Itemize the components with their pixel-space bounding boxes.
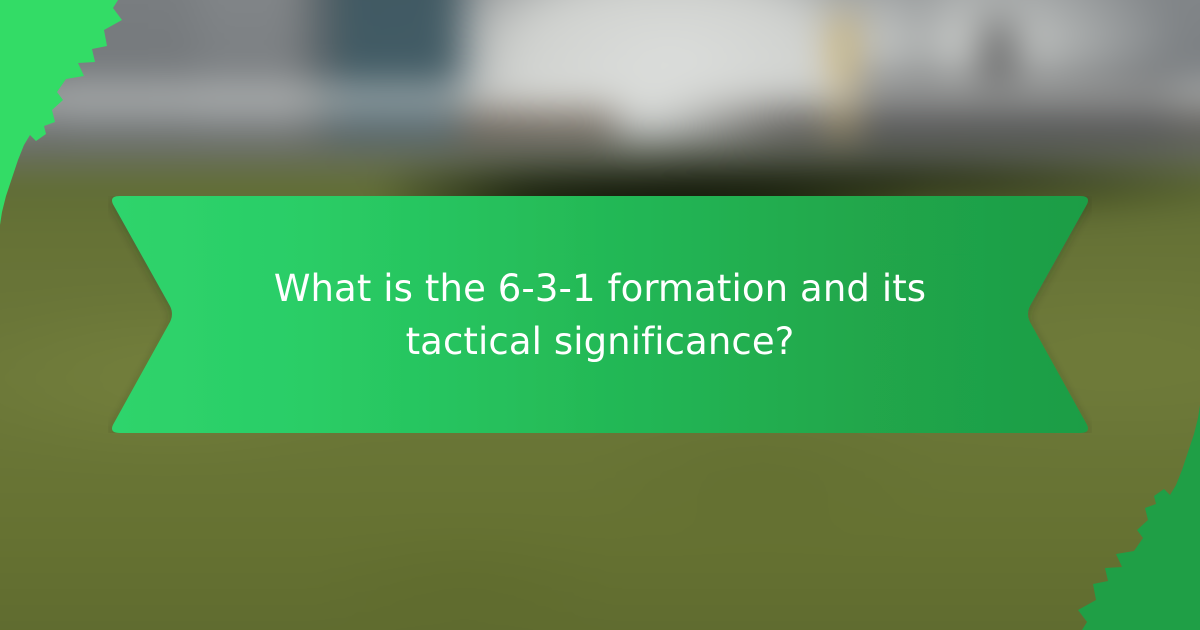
question-banner-text-wrap: What is the 6-3-1 formation and its tact… <box>108 196 1092 433</box>
share-card: What is the 6-3-1 formation and its tact… <box>0 0 1200 630</box>
background-yellow-pole <box>835 15 851 142</box>
background-fence <box>0 87 1200 115</box>
background-figure <box>982 18 1014 82</box>
question-headline: What is the 6-3-1 formation and its tact… <box>228 262 972 368</box>
